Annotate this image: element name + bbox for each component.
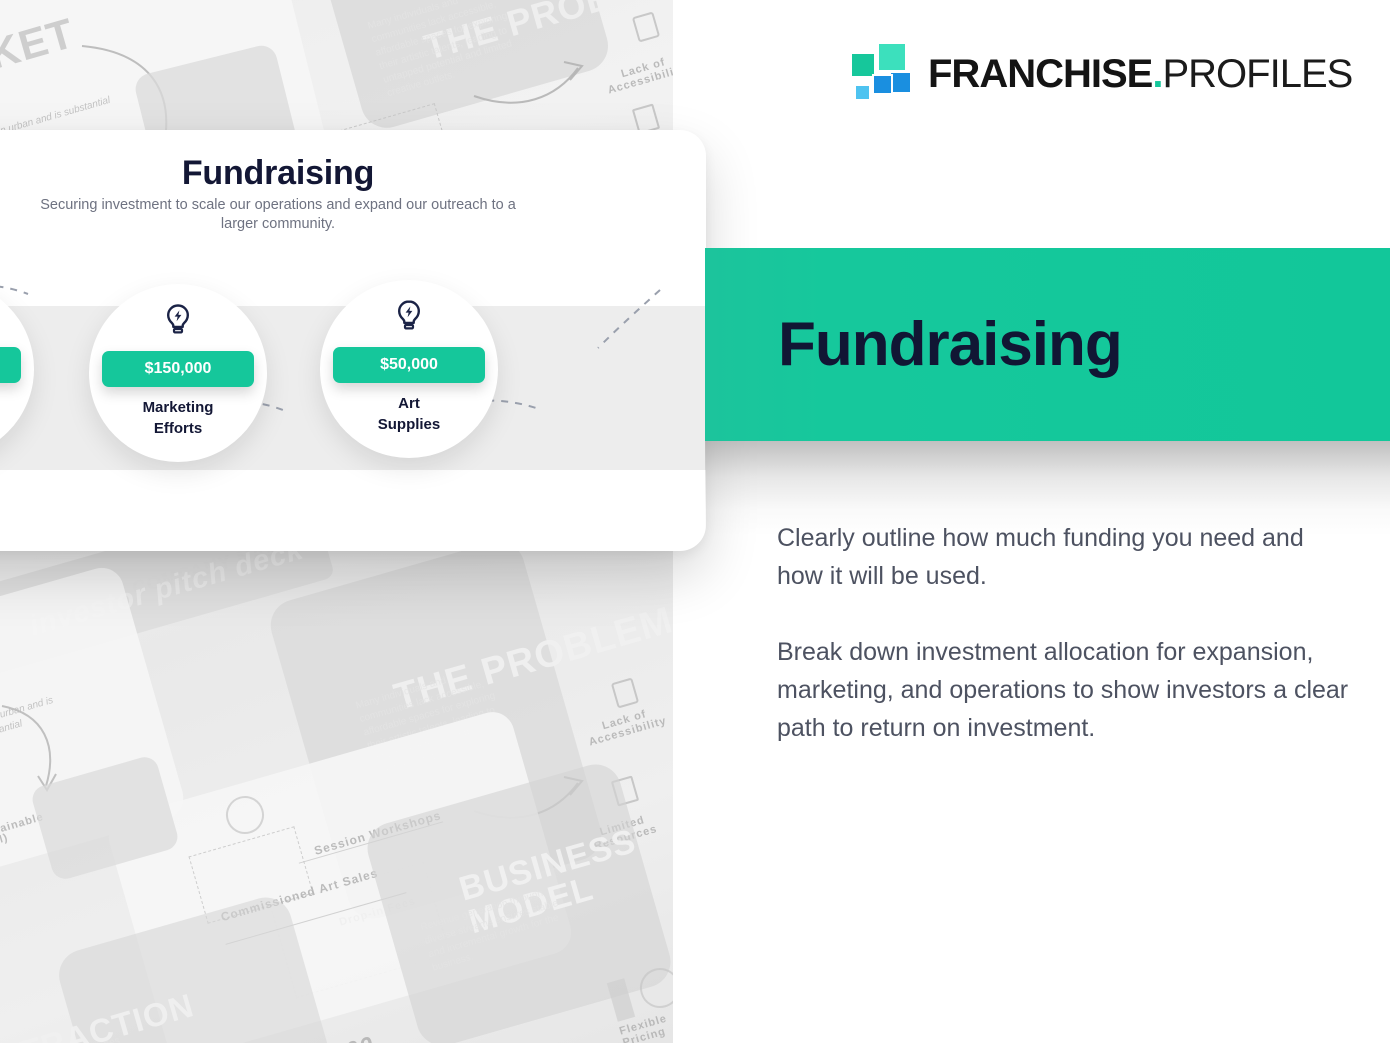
card-title: Fundraising (0, 154, 706, 193)
pillar-amount: $50,000 (333, 347, 485, 383)
brand-logo[interactable]: FRANCHISE.PROFILES (852, 44, 1352, 104)
logo-square-lightblue (856, 86, 869, 99)
description-paragraph-1: Clearly outline how much funding you nee… (777, 519, 1355, 595)
logo-square-blue-right (891, 73, 910, 92)
pillar-label: Art Supplies (339, 393, 479, 435)
logo-mark-icon (852, 44, 910, 104)
logo-square-mint (879, 44, 905, 70)
pillar-marketing-efforts[interactable]: $150,000 Marketing Efforts (89, 284, 267, 462)
pillar-amount: $150,000 (102, 351, 254, 387)
pillar-label: Marketing Efforts (108, 397, 248, 439)
pillar-art-supplies[interactable]: $50,000 Art Supplies (320, 280, 498, 458)
logo-word-bold: FRANCHISE (928, 52, 1152, 96)
logo-square-teal (852, 54, 874, 76)
logo-word-light: PROFILES (1162, 52, 1352, 96)
pillar-label-line1: Marketing (143, 399, 214, 416)
pillar-label-line1: Art (398, 395, 420, 412)
pillar-label: Space Expansion (0, 393, 15, 435)
lightbulb-icon (394, 299, 424, 338)
logo-wordmark: FRANCHISE.PROFILES (928, 54, 1352, 94)
logo-square-blue-center (874, 76, 891, 93)
logo-dot: . (1152, 52, 1162, 96)
deck-doc-icon (611, 677, 639, 708)
deck-label: Lack of Accessibility (584, 703, 668, 748)
deck-doc-icon (632, 11, 660, 42)
page-title: Fundraising (778, 314, 1122, 376)
pillar-space-expansion[interactable]: $150,000 Space Expansion (0, 280, 34, 458)
pillar-label-line2: Efforts (154, 420, 202, 437)
description-paragraph-2: Break down investment allocation for exp… (777, 633, 1355, 747)
card-subtitle: Securing investment to scale our operati… (28, 196, 528, 234)
title-banner: Fundraising (705, 248, 1390, 441)
description-text: Clearly outline how much funding you nee… (777, 519, 1355, 747)
deck-label: Lack of Accessibility (603, 51, 673, 96)
pillar-group: $150,000 Space Expansion $150,000 Market… (0, 280, 706, 490)
deck-arrow-icon (470, 40, 590, 120)
lightbulb-icon (163, 303, 193, 342)
pillar-label-line2: Supplies (378, 416, 441, 433)
pillar-amount: $150,000 (0, 347, 21, 383)
fundraising-slide-card: Fundraising Securing investment to scale… (0, 130, 706, 551)
